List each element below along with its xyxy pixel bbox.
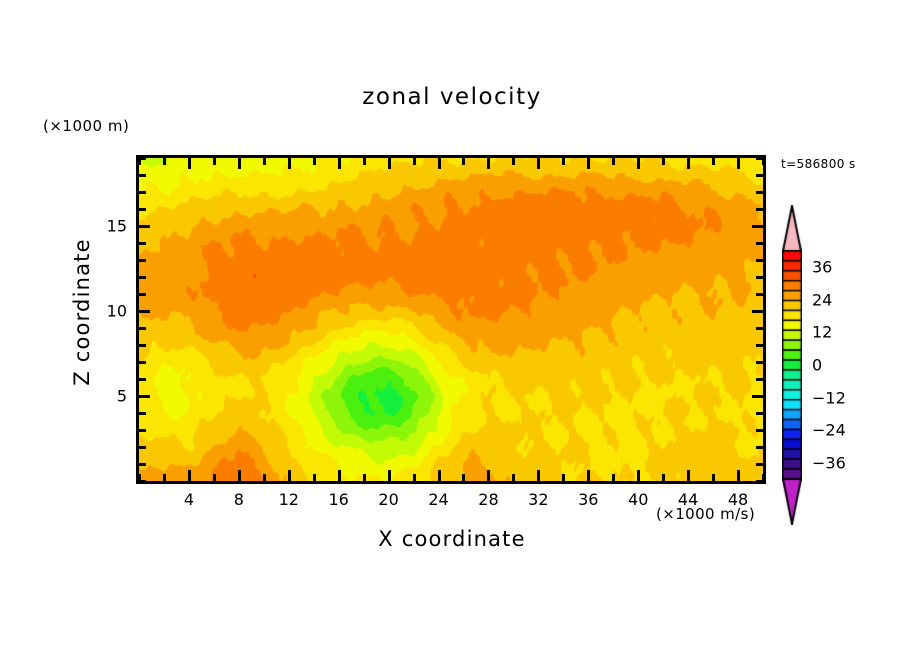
x-tick-major <box>537 470 540 481</box>
x-tick-minor <box>313 158 316 165</box>
y-tick-minor <box>756 157 763 160</box>
y-tick-minor <box>139 480 146 483</box>
y-tick-minor <box>139 361 146 364</box>
x-tick-minor <box>363 474 366 481</box>
x-tick-major <box>487 158 490 169</box>
y-axis-title: Z coordinate <box>70 202 94 422</box>
x-tick-major <box>537 158 540 169</box>
figure-canvas: zonal velocity (×1000 m) t=586800 s 4812… <box>0 0 904 654</box>
y-tick-minor <box>139 429 146 432</box>
y-tick-minor <box>139 344 146 347</box>
y-tick-minor <box>139 242 146 245</box>
y-axis-unit-label: (×1000 m) <box>43 117 129 135</box>
y-tick-minor <box>756 191 763 194</box>
x-tick-minor <box>512 474 515 481</box>
colorbar-tick-label: −12 <box>812 388 846 407</box>
y-tick-minor <box>139 463 146 466</box>
colorbar-tick-label: 0 <box>812 356 822 375</box>
x-tick-major <box>438 158 441 169</box>
x-tick-major <box>737 158 740 169</box>
y-tick-minor <box>139 208 146 211</box>
x-tick-major <box>637 470 640 481</box>
y-tick-label: 10 <box>93 302 127 321</box>
x-tick-minor <box>662 158 665 165</box>
x-tick-minor <box>562 158 565 165</box>
x-tick-minor <box>612 158 615 165</box>
x-tick-minor <box>562 474 565 481</box>
y-tick-minor <box>756 378 763 381</box>
y-tick-minor <box>139 293 146 296</box>
x-tick-minor <box>512 158 515 165</box>
x-tick-minor <box>163 158 166 165</box>
x-tick-minor <box>612 474 615 481</box>
x-tick-label: 20 <box>378 490 398 509</box>
colorbar <box>782 205 802 525</box>
x-tick-minor <box>213 158 216 165</box>
x-tick-minor <box>263 474 266 481</box>
x-tick-major <box>288 158 291 169</box>
colorbar-tick-label: −24 <box>812 421 846 440</box>
x-tick-minor <box>213 474 216 481</box>
colorbar-unit-label: (×1000 m/s) <box>656 505 755 523</box>
y-tick-minor <box>756 361 763 364</box>
y-tick-minor <box>139 276 146 279</box>
x-tick-major <box>388 470 391 481</box>
colorbar-tick-label: 12 <box>812 323 832 342</box>
y-tick-major <box>139 310 150 313</box>
y-tick-minor <box>139 378 146 381</box>
x-tick-minor <box>313 474 316 481</box>
x-tick-label: 8 <box>234 490 244 509</box>
y-tick-major <box>139 225 150 228</box>
y-tick-minor <box>756 208 763 211</box>
x-tick-label: 16 <box>328 490 348 509</box>
y-tick-minor <box>756 327 763 330</box>
page-title: zonal velocity <box>0 84 904 110</box>
x-tick-major <box>687 158 690 169</box>
timestamp-annotation: t=586800 s <box>781 157 856 171</box>
x-tick-major <box>188 470 191 481</box>
x-tick-label: 12 <box>279 490 299 509</box>
x-tick-label: 28 <box>478 490 498 509</box>
y-tick-major <box>752 395 763 398</box>
x-tick-major <box>687 470 690 481</box>
y-tick-minor <box>756 429 763 432</box>
y-tick-label: 5 <box>93 387 127 406</box>
x-tick-label: 40 <box>628 490 648 509</box>
x-tick-major <box>288 470 291 481</box>
x-tick-label: 4 <box>184 490 194 509</box>
colorbar-tick-label: −36 <box>812 453 846 472</box>
y-tick-minor <box>756 242 763 245</box>
y-tick-minor <box>139 174 146 177</box>
x-tick-major <box>587 470 590 481</box>
x-tick-minor <box>413 474 416 481</box>
colorbar-tick-label: 24 <box>812 290 832 309</box>
x-tick-label: 36 <box>578 490 598 509</box>
y-tick-minor <box>139 157 146 160</box>
y-tick-major <box>752 310 763 313</box>
y-tick-minor <box>756 293 763 296</box>
x-tick-major <box>338 158 341 169</box>
plot-area <box>136 155 766 484</box>
x-tick-major <box>238 470 241 481</box>
y-tick-minor <box>139 259 146 262</box>
x-tick-major <box>737 470 740 481</box>
colorbar-gradient <box>782 205 802 525</box>
y-tick-minor <box>139 327 146 330</box>
contour-field <box>139 158 763 481</box>
x-tick-major <box>188 158 191 169</box>
y-tick-minor <box>756 480 763 483</box>
x-tick-minor <box>662 474 665 481</box>
x-tick-major <box>487 470 490 481</box>
x-tick-major <box>238 158 241 169</box>
x-axis-title: X coordinate <box>0 527 904 551</box>
x-tick-major <box>388 158 391 169</box>
y-tick-minor <box>756 276 763 279</box>
x-tick-minor <box>462 158 465 165</box>
y-tick-minor <box>756 344 763 347</box>
x-tick-minor <box>462 474 465 481</box>
x-tick-minor <box>712 474 715 481</box>
y-tick-minor <box>756 446 763 449</box>
y-tick-minor <box>756 412 763 415</box>
y-tick-label: 15 <box>93 217 127 236</box>
x-tick-minor <box>712 158 715 165</box>
x-tick-minor <box>363 158 366 165</box>
x-tick-minor <box>263 158 266 165</box>
y-tick-minor <box>139 446 146 449</box>
y-tick-major <box>139 395 150 398</box>
y-tick-minor <box>756 259 763 262</box>
x-tick-major <box>438 470 441 481</box>
y-tick-major <box>752 225 763 228</box>
y-tick-minor <box>756 463 763 466</box>
x-tick-minor <box>163 474 166 481</box>
y-tick-minor <box>756 174 763 177</box>
x-tick-major <box>637 158 640 169</box>
x-tick-minor <box>413 158 416 165</box>
y-tick-minor <box>139 191 146 194</box>
x-tick-label: 32 <box>528 490 548 509</box>
x-tick-major <box>338 470 341 481</box>
colorbar-tick-label: 36 <box>812 258 832 277</box>
x-tick-label: 24 <box>428 490 448 509</box>
y-tick-minor <box>139 412 146 415</box>
x-tick-major <box>587 158 590 169</box>
